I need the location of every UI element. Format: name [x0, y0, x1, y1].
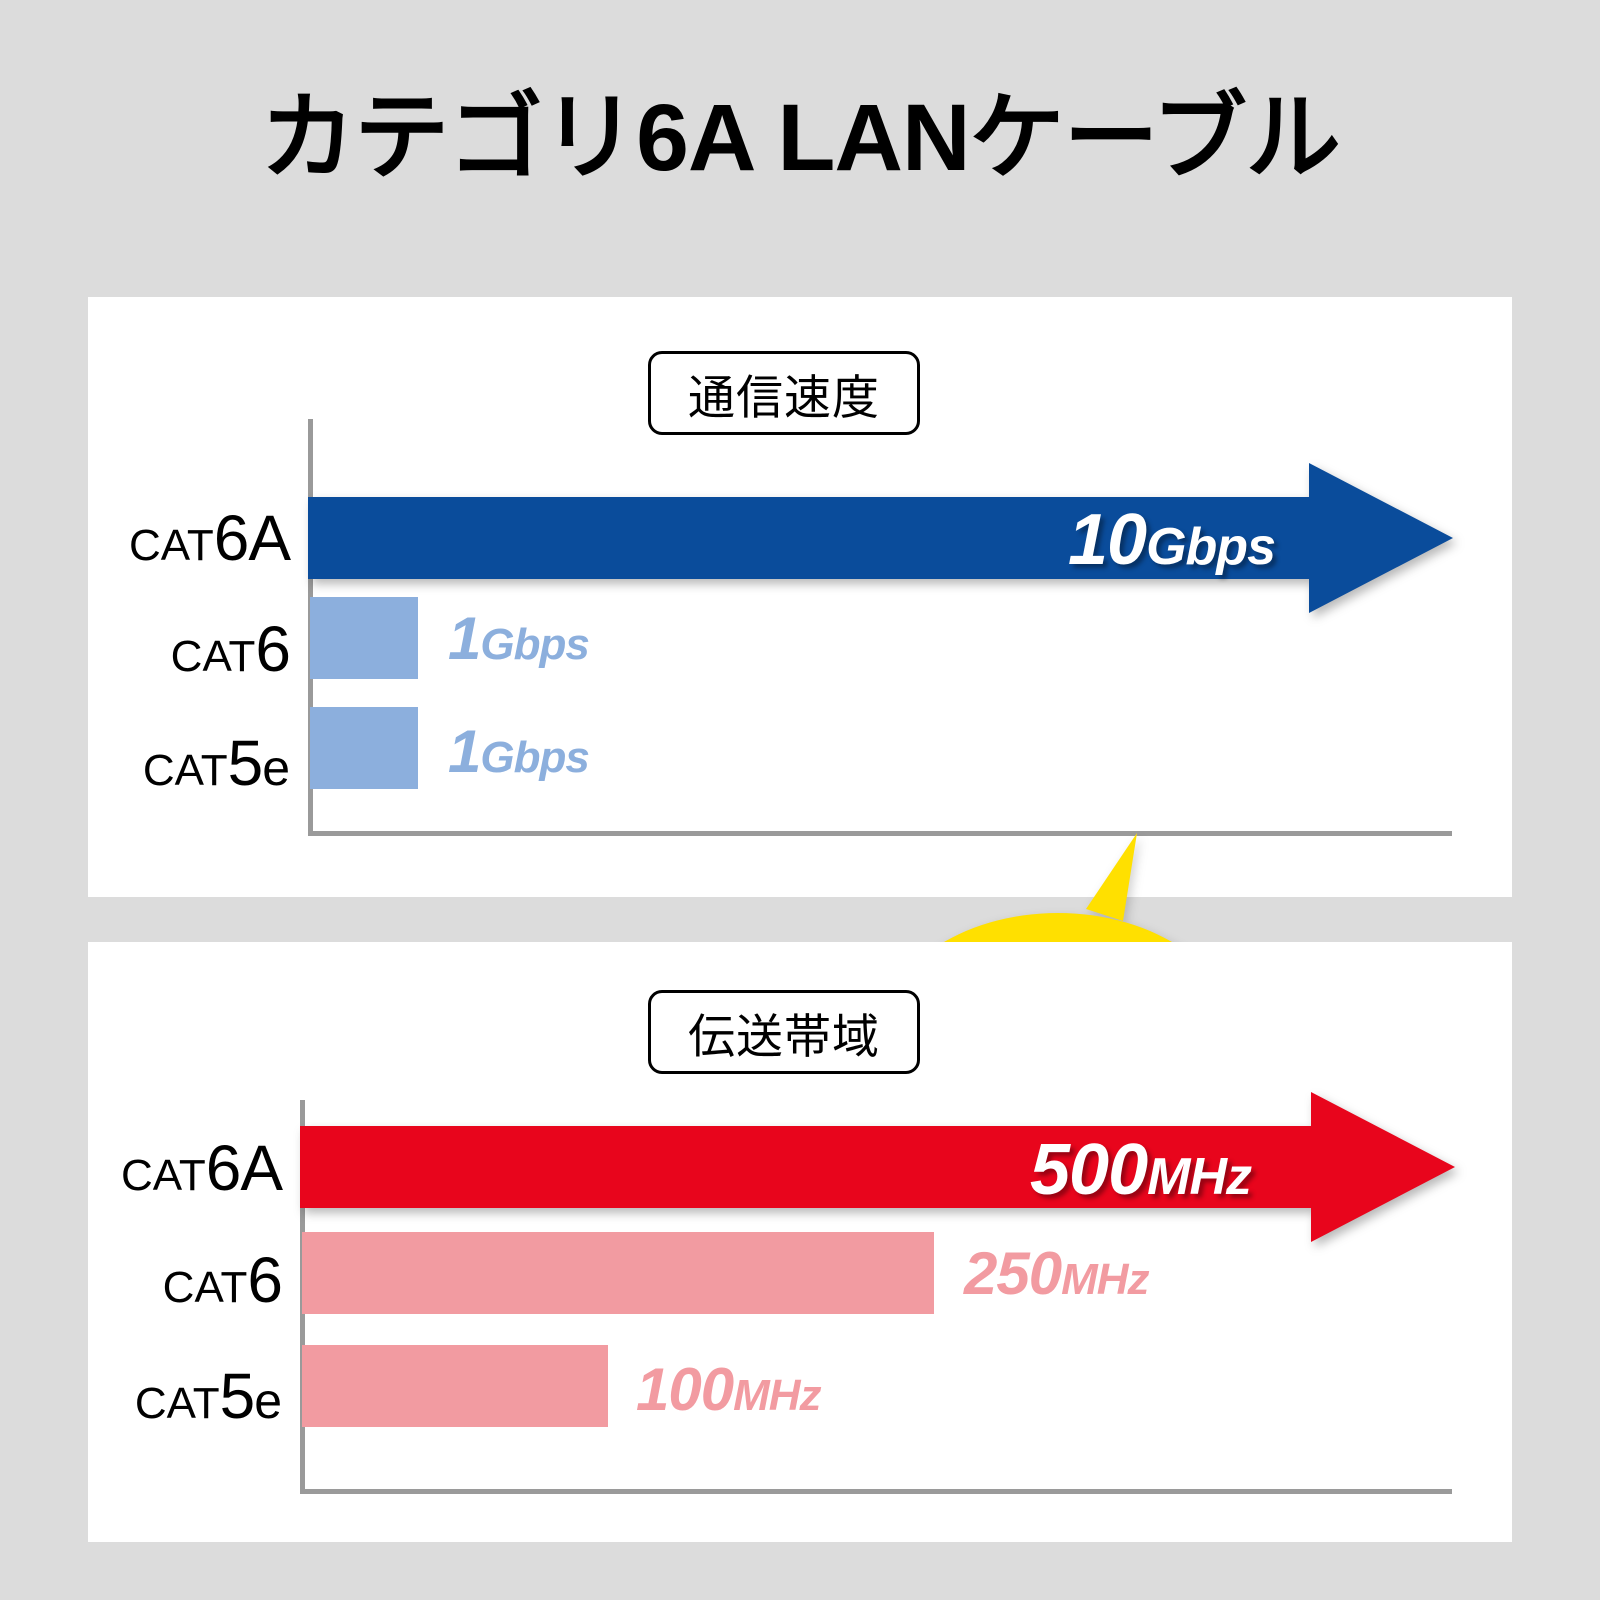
page-title: カテゴリ6A LANケーブル: [0, 86, 1600, 191]
speed-value-cat6-number: 1: [448, 605, 480, 672]
bandwidth-cat6a-main: 6: [206, 1132, 241, 1204]
speed-cat6-main: 6: [255, 613, 290, 685]
bandwidth-value-cat6a: 500MHz: [1030, 1134, 1251, 1206]
bandwidth-value-cat5e-unit: MHz: [733, 1371, 820, 1420]
section-heading-bandwidth: 伝送帯域: [648, 990, 920, 1074]
speed-category-label-cat6: CAT6: [171, 617, 290, 681]
bandwidth-arrow-cat6a: [300, 1092, 1455, 1242]
section-heading-speed: 通信速度: [648, 351, 920, 435]
bandwidth-category-label-cat6a: CAT6A: [121, 1136, 282, 1200]
speed-cat5e-main: 5: [228, 727, 263, 799]
bandwidth-cat5e-suffix: e: [254, 1373, 282, 1429]
speed-category-label-cat5e: CAT5e: [143, 731, 290, 795]
bandwidth-cat5e-main: 5: [220, 1360, 255, 1432]
speed-value-cat6a-unit: Gbps: [1146, 518, 1275, 576]
speed-value-cat5e-unit: Gbps: [480, 733, 588, 782]
bandwidth-cat6a-suffix: A: [240, 1132, 282, 1204]
speed-cat5e-prefix: CAT: [143, 746, 228, 795]
bandwidth-cat6-prefix: CAT: [163, 1263, 248, 1312]
bandwidth-category-label-cat5e: CAT5e: [135, 1364, 282, 1428]
speed-cat6a-prefix: CAT: [129, 521, 214, 570]
speed-cat5e-suffix: e: [262, 740, 290, 796]
bandwidth-cat6-main: 6: [247, 1244, 282, 1316]
bandwidth-value-cat5e-number: 100: [636, 1356, 733, 1423]
section-heading-speed-label: 通信速度: [688, 359, 880, 428]
speed-cat6a-main: 6: [214, 502, 249, 574]
section-heading-bandwidth-label: 伝送帯域: [688, 998, 880, 1067]
bandwidth-value-cat6a-unit: MHz: [1147, 1148, 1251, 1206]
bandwidth-category-label-cat6: CAT6: [163, 1248, 282, 1312]
speed-value-cat6a-number: 10: [1068, 500, 1146, 580]
speed-value-cat6: 1Gbps: [448, 609, 589, 669]
speed-value-cat5e: 1Gbps: [448, 722, 589, 782]
bandwidth-value-cat6a-number: 500: [1030, 1130, 1147, 1210]
bandwidth-bar-cat5e: [302, 1345, 608, 1427]
speed-cat6a-suffix: A: [248, 502, 290, 574]
bandwidth-bar-cat6: [302, 1232, 934, 1314]
bandwidth-cat6a-prefix: CAT: [121, 1151, 206, 1200]
bandwidth-cat5e-prefix: CAT: [135, 1379, 220, 1428]
bandwidth-value-cat6-number: 250: [964, 1240, 1061, 1307]
speed-value-cat5e-number: 1: [448, 718, 480, 785]
bandwidth-value-cat6: 250MHz: [964, 1244, 1149, 1304]
bandwidth-value-cat6-unit: MHz: [1061, 1255, 1148, 1304]
speed-bar-cat5e: [310, 707, 418, 789]
speed-category-label-cat6a: CAT6A: [129, 506, 290, 570]
bandwidth-value-cat5e: 100MHz: [636, 1360, 821, 1420]
speed-bar-cat6: [310, 597, 418, 679]
speed-value-cat6-unit: Gbps: [480, 620, 588, 669]
bandwidth-axis-horizontal: [300, 1489, 1452, 1494]
speed-cat6-prefix: CAT: [171, 632, 256, 681]
panel-speed: 通信速度 CAT6A 10Gbps CAT6 1Gbps CAT5e 1Gbps…: [88, 297, 1512, 897]
speed-arrow-cat6a: [308, 463, 1453, 613]
speed-value-cat6a: 10Gbps: [1068, 504, 1275, 576]
panel-bandwidth: 伝送帯域 CAT6A 500MHz CAT6 250MHz CAT5e 100M…: [88, 942, 1512, 1542]
